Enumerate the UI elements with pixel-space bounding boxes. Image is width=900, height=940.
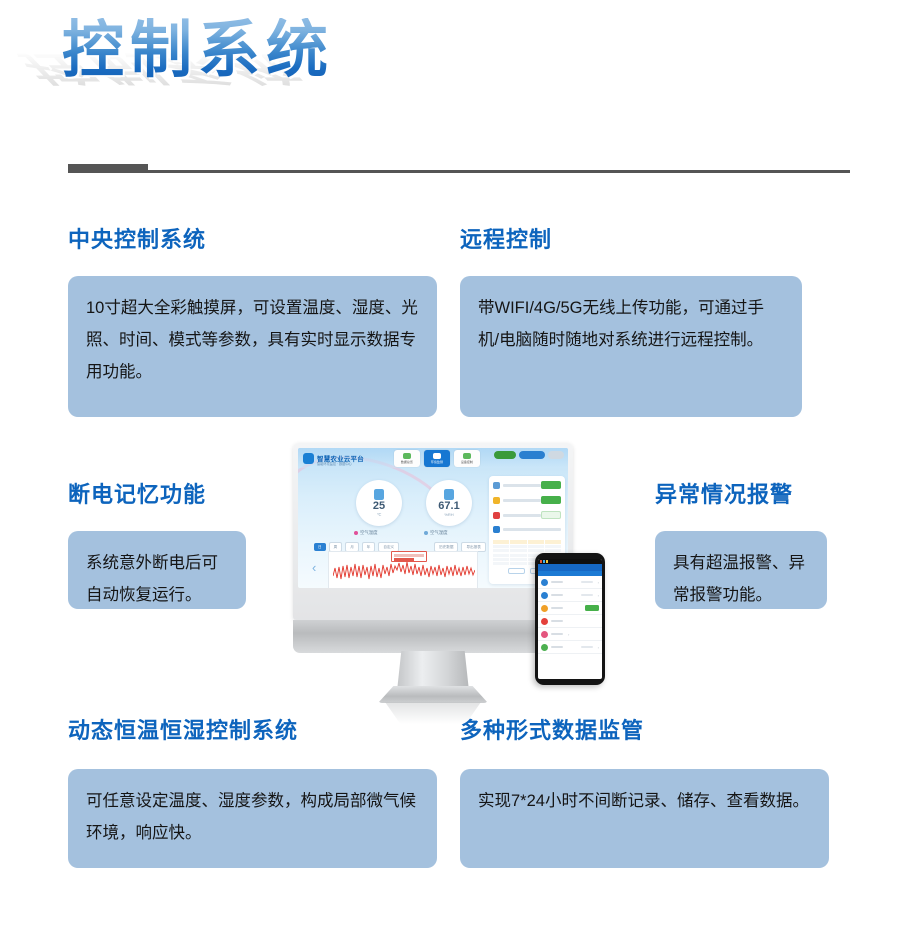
chart-range-day[interactable]: 日 xyxy=(314,543,326,551)
nav-tab-monitoring[interactable]: 环境监测 xyxy=(424,450,450,467)
section-body-data-supervision: 实现7*24小时不间断记录、储存、查看数据。 xyxy=(478,785,811,817)
phone-item-label xyxy=(551,594,563,597)
control-row-curtain-label xyxy=(503,484,541,487)
phone-item-label xyxy=(551,620,563,623)
gauge-humidity-value: 67.1 xyxy=(438,501,459,512)
divider-thin-line xyxy=(148,170,850,173)
table-header-time xyxy=(493,540,509,544)
humidity-icon xyxy=(541,592,548,599)
chart-sparkline xyxy=(333,558,475,588)
table-cell xyxy=(493,554,509,557)
signal-icon xyxy=(540,560,542,563)
phone-item-toggle-button[interactable] xyxy=(585,605,599,611)
table-row xyxy=(493,545,561,548)
phone-app-header xyxy=(538,564,602,571)
control-row-heater-label xyxy=(503,514,541,517)
monitor-stand-neck xyxy=(397,651,469,691)
phone-list-item-curtain[interactable] xyxy=(538,602,602,615)
section-card-remote-control: 带WIFI/4G/5G无线上传功能，可通过手机/电脑随时随地对系统进行远程控制。 xyxy=(460,276,802,417)
gauge-humidity-unit: %RH xyxy=(444,512,453,517)
device-mockup-illustration: 智慧农业云平台 智能环境监控 · 数据中心 数据总览 环境监测 xyxy=(290,443,610,693)
chevron-right-icon: › xyxy=(598,580,599,585)
phone-list-item-humidity[interactable]: › xyxy=(538,589,602,602)
phone-item-label xyxy=(551,633,563,636)
bulb-icon xyxy=(493,497,500,504)
platform-subtitle: 智能环境监控 · 数据中心 xyxy=(317,461,352,466)
temperature-icon xyxy=(541,579,548,586)
platform-logo-icon xyxy=(303,453,314,464)
phone-screen: › › xyxy=(538,559,602,679)
table-cell xyxy=(510,549,526,552)
confirm-button[interactable] xyxy=(508,568,525,574)
section-card-central-control: 10寸超大全彩触摸屏，可设置温度、湿度、光照、时间、模式等参数，具有实时显示数据… xyxy=(68,276,437,417)
table-cell xyxy=(493,558,509,561)
control-row-mode xyxy=(493,526,561,533)
gauge-temperature-label: 空气温度 xyxy=(360,530,378,536)
light-icon xyxy=(541,618,548,625)
phone-item-label xyxy=(551,646,563,649)
status-badge[interactable] xyxy=(494,451,516,459)
section-body-dynamic-control: 可任意设定温度、湿度参数，构成局部微气候环境，响应快。 xyxy=(86,785,419,849)
chevron-right-icon: › xyxy=(598,593,599,598)
chart-tooltip-value xyxy=(394,558,414,561)
dashboard-topbar-actions xyxy=(494,451,564,459)
table-cell xyxy=(510,545,526,548)
page-title-block: 控制系统 控制系统 xyxy=(62,18,482,158)
divider-thick-segment xyxy=(68,164,148,173)
table-header-row xyxy=(493,540,561,544)
table-header-temperature xyxy=(510,540,526,544)
control-row-curtain xyxy=(493,481,561,489)
battery-icon xyxy=(546,560,548,563)
temperature-dot-icon xyxy=(354,531,358,535)
phone-list-item-light[interactable] xyxy=(538,615,602,628)
records-icon xyxy=(541,644,548,651)
control-row-light xyxy=(493,496,561,504)
table-cell xyxy=(545,549,561,552)
gauge-humidity-label: 空气湿度 xyxy=(430,530,448,536)
phone-item-label xyxy=(551,607,563,610)
light-toggle-button[interactable] xyxy=(541,496,561,504)
thermometer-icon xyxy=(374,489,384,500)
control-row-light-label xyxy=(503,499,541,502)
section-body-abnormal-alarm: 具有超温报警、异常报警功能。 xyxy=(673,547,809,611)
section-heading-central-control: 中央控制系统 xyxy=(68,222,206,254)
dashboard-topbar: 智慧农业云平台 智能环境监控 · 数据中心 数据总览 环境监测 xyxy=(298,448,568,468)
phone-list-item-records[interactable]: › xyxy=(538,641,602,654)
heater-icon xyxy=(541,631,548,638)
curtain-icon xyxy=(493,482,500,489)
nav-tab-device-control-label: 设备控制 xyxy=(461,460,473,464)
section-body-power-memory: 系统意外断电后可自动恢复运行。 xyxy=(86,547,228,611)
section-heading-data-supervision: 多种形式数据监管 xyxy=(460,713,644,745)
table-cell xyxy=(528,545,544,548)
phone-item-value xyxy=(581,646,593,649)
phone-list-item-heater[interactable]: › xyxy=(538,628,602,641)
table-cell xyxy=(510,558,526,561)
table-header-light xyxy=(545,540,561,544)
gauge-humidity-label-wrap: 空气湿度 xyxy=(424,530,448,536)
section-heading-remote-control: 远程控制 xyxy=(460,222,552,254)
temperature-line-chart xyxy=(328,551,478,588)
desktop-monitor: 智慧农业云平台 智能环境监控 · 数据中心 数据总览 环境监测 xyxy=(293,443,573,620)
monitor-screen: 智慧农业云平台 智能环境监控 · 数据中心 数据总览 环境监测 xyxy=(298,448,568,588)
nav-tab-overview-label: 数据总览 xyxy=(401,460,413,464)
section-heading-power-memory: 断电记忆功能 xyxy=(68,477,206,509)
section-card-dynamic-control: 可任意设定温度、湿度参数，构成局部微气候环境，响应快。 xyxy=(68,769,437,868)
section-card-power-memory: 系统意外断电后可自动恢复运行。 xyxy=(68,531,246,609)
table-cell xyxy=(493,562,509,565)
menu-badge[interactable] xyxy=(548,451,564,459)
curtain-icon xyxy=(541,605,548,612)
mode-icon xyxy=(493,526,500,533)
table-cell xyxy=(545,545,561,548)
table-row xyxy=(493,549,561,552)
section-card-abnormal-alarm: 具有超温报警、异常报警功能。 xyxy=(655,531,827,609)
control-row-mode-label xyxy=(503,528,561,531)
section-body-remote-control: 带WIFI/4G/5G无线上传功能，可通过手机/电脑随时随地对系统进行远程控制。 xyxy=(478,292,784,356)
account-badge[interactable] xyxy=(519,451,545,459)
humidity-dot-icon xyxy=(424,531,428,535)
heater-icon xyxy=(493,512,500,519)
monitor-stand-base xyxy=(378,686,488,703)
section-heading-dynamic-control: 动态恒温恒湿控制系统 xyxy=(68,713,298,745)
monitor-bezel-chin xyxy=(293,620,573,653)
table-cell xyxy=(510,554,526,557)
nav-tab-overview[interactable]: 数据总览 xyxy=(394,450,420,467)
droplet-icon xyxy=(444,489,454,500)
section-card-data-supervision: 实现7*24小时不间断记录、储存、查看数据。 xyxy=(460,769,829,868)
table-cell xyxy=(528,549,544,552)
chevron-right-icon: › xyxy=(568,632,569,637)
phone-item-label xyxy=(551,581,563,584)
control-row-heater xyxy=(493,511,561,519)
table-cell xyxy=(493,549,509,552)
mobile-phone-mockup: › › xyxy=(535,553,605,685)
section-body-central-control: 10寸超大全彩触摸屏，可设置温度、湿度、光照、时间、模式等参数，具有实时显示数据… xyxy=(86,292,419,388)
wifi-icon xyxy=(543,560,545,563)
gauge-temperature: 25 ℃ xyxy=(356,480,402,526)
table-cell xyxy=(493,545,509,548)
phone-item-value xyxy=(581,594,593,597)
section-heading-abnormal-alarm: 异常情况报警 xyxy=(655,477,793,509)
control-system-page: 控制系统 控制系统 中央控制系统 10寸超大全彩触摸屏，可设置温度、湿度、光照、… xyxy=(0,0,900,940)
gauge-temperature-label-wrap: 空气温度 xyxy=(354,530,378,536)
gauge-humidity: 67.1 %RH xyxy=(426,480,472,526)
curtain-toggle-button[interactable] xyxy=(541,481,561,489)
phone-item-value xyxy=(581,581,593,584)
page-title: 控制系统 xyxy=(62,18,334,83)
table-header-humidity xyxy=(528,540,544,544)
chart-prev-icon[interactable]: ‹ xyxy=(312,560,316,575)
heater-toggle-button[interactable] xyxy=(541,511,561,519)
leaf-icon xyxy=(403,453,411,459)
chevron-right-icon: › xyxy=(598,645,599,650)
nav-tab-device-control[interactable]: 设备控制 xyxy=(454,450,480,467)
gauge-temperature-value: 25 xyxy=(373,501,385,512)
phone-list-item-temperature[interactable]: › xyxy=(538,576,602,589)
chart-tooltip-title xyxy=(394,554,424,557)
table-cell xyxy=(510,562,526,565)
dashboard-nav: 数据总览 环境监测 设备控制 xyxy=(390,450,480,467)
cloud-icon xyxy=(463,453,471,459)
header-divider xyxy=(68,164,850,173)
chart-tooltip xyxy=(391,551,427,562)
gauge-temperature-unit: ℃ xyxy=(377,512,382,517)
gauge-icon xyxy=(433,453,441,459)
nav-tab-monitoring-label: 环境监测 xyxy=(431,460,443,464)
